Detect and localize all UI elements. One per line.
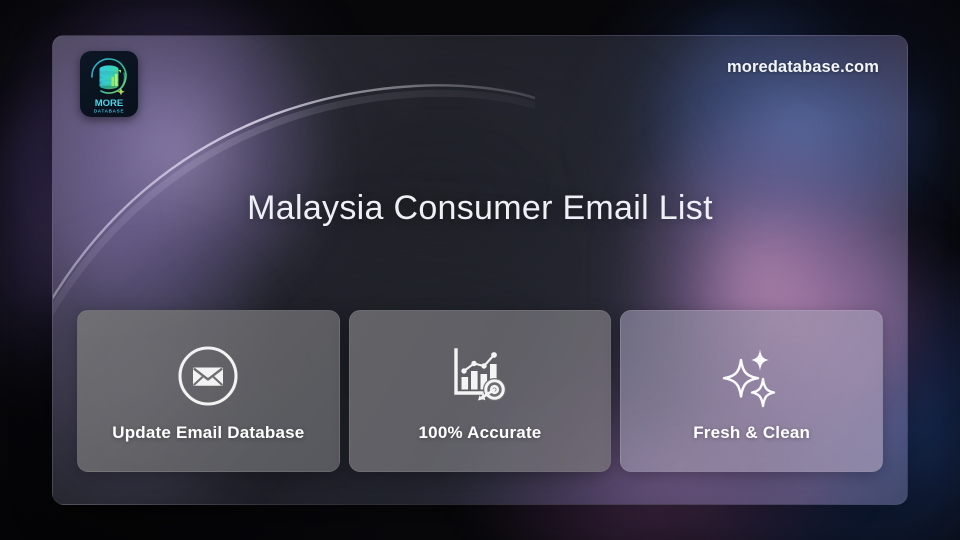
logo-subtitle: DATABASE [94,109,124,114]
logo-wordmark: MORE [95,98,124,109]
page-title: Malaysia Consumer Email List [53,189,907,228]
feature-card-label: Fresh & Clean [693,423,810,443]
feature-card-label: 100% Accurate [419,423,542,443]
feature-card-update-email-database[interactable]: Update Email Database [77,310,340,472]
main-panel: MORE DATABASE moredatabase.com Malaysia … [52,35,908,505]
feature-card-list: Update Email Database [77,310,883,472]
bar-chart-target-icon [447,339,513,413]
website-domain: moredatabase.com [727,58,879,77]
brand-logo[interactable]: MORE DATABASE [80,51,138,117]
envelope-circle-icon [176,339,240,413]
feature-card-fresh-clean[interactable]: Fresh & Clean [620,310,883,472]
database-stack-icon: MORE DATABASE [80,51,138,117]
feature-card-label: Update Email Database [112,423,304,443]
feature-card-100-accurate[interactable]: 100% Accurate [349,310,612,472]
sparkles-icon [719,339,785,413]
